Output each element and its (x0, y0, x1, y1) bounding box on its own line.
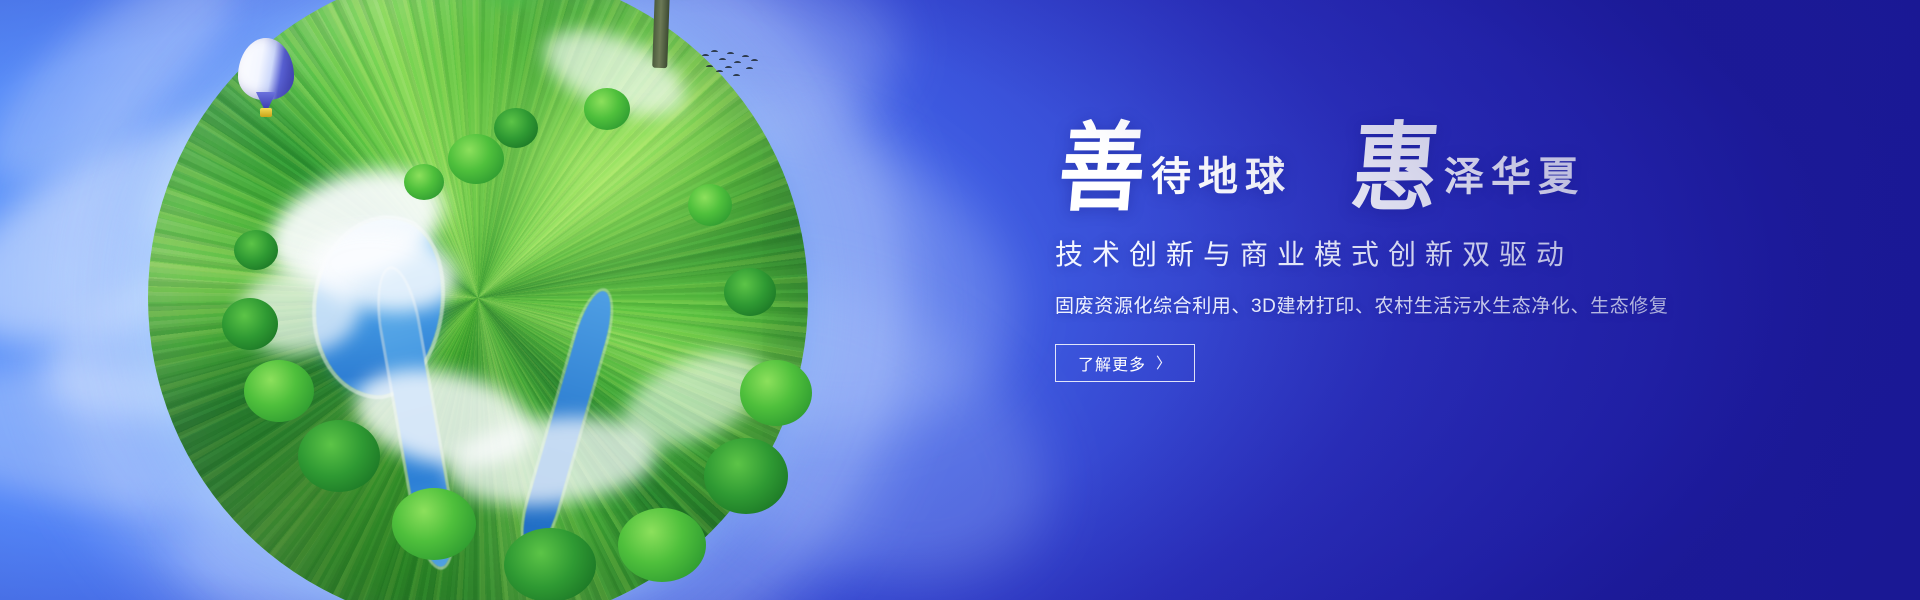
background-vignette (0, 0, 1920, 600)
hero-banner: 善 待地球 惠 泽华夏 技术创新与商业模式创新双驱动 固废资源化综合利用、3D建… (0, 0, 1920, 600)
